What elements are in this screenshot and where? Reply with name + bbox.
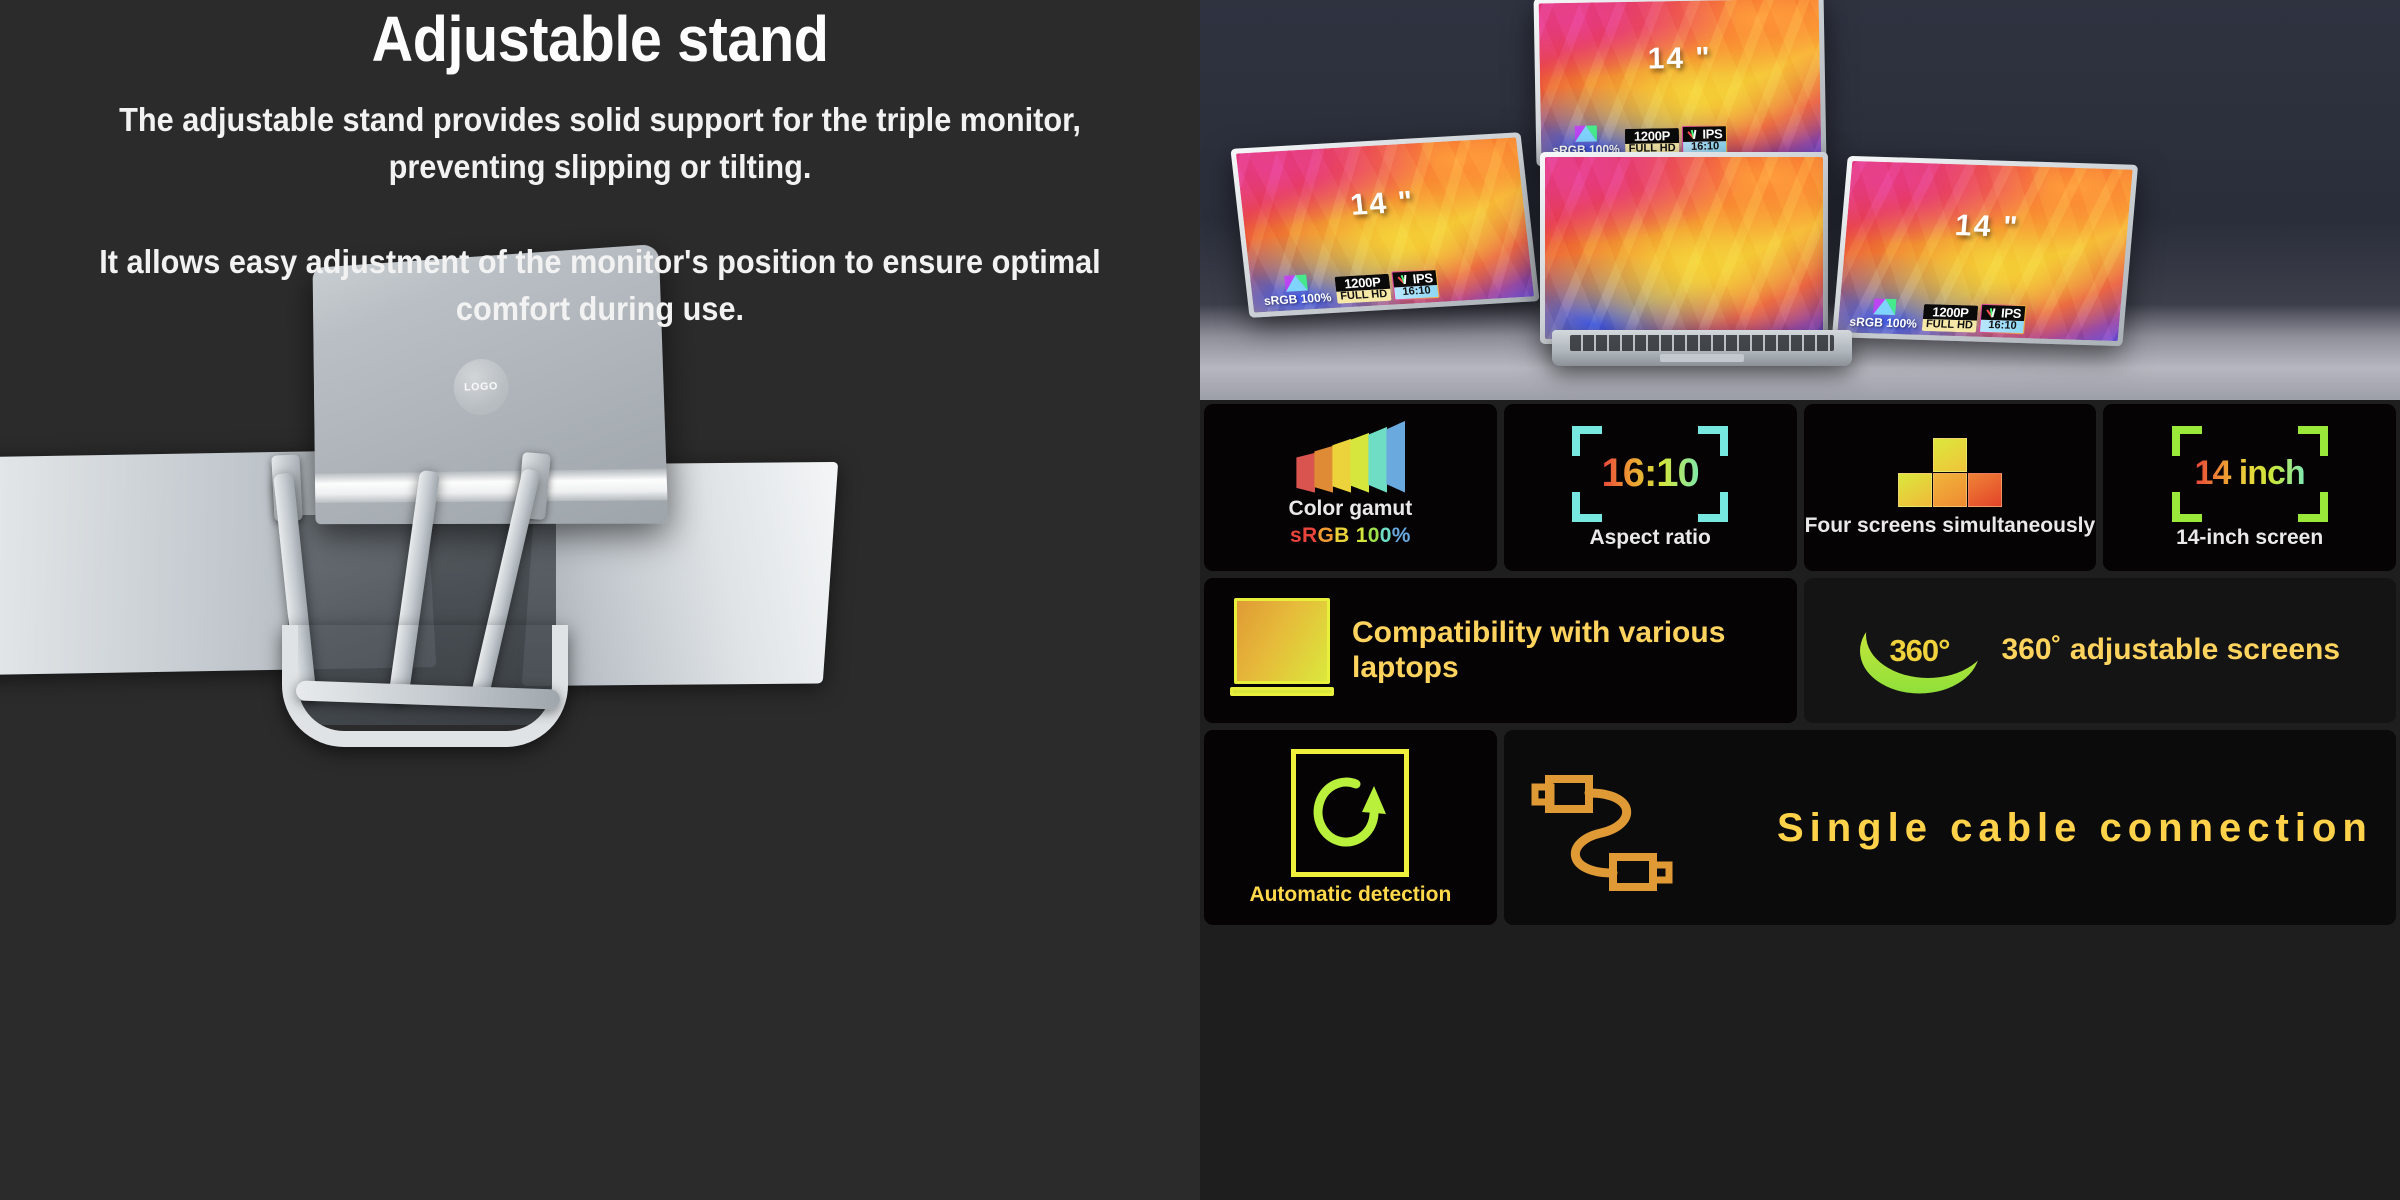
panel-badge-right-sub: 16:10 <box>1980 320 2024 333</box>
color-triangle-icon <box>1575 125 1597 141</box>
right-panel: 14 " sRGB 100% 1200P FULL HD <box>1200 0 2400 1200</box>
compatibility-label: Compatibility with various laptops <box>1352 616 1797 684</box>
resolution-badge-left: 1200P FULL HD <box>1334 273 1392 303</box>
laptop-icon-screen <box>1234 598 1330 684</box>
screen-size-value: 14 inch <box>2195 454 2305 493</box>
rotation-360-icon: 360° <box>1860 608 1980 694</box>
aspect-ratio-bracket-icon: 16:10 <box>1572 426 1728 522</box>
left-panel: Adjustable stand The adjustable stand pr… <box>0 0 1200 1200</box>
monitor-left-badges: sRGB 100% 1200P FULL HD IPS 16:10 <box>1261 262 1522 308</box>
logo-emblem: LOGO <box>453 358 509 416</box>
panel-badge-left-text: IPS <box>1412 271 1434 286</box>
monitor-center-laptop <box>1540 152 1828 344</box>
ips-fan-icon <box>1986 307 2000 317</box>
rotation-icon-value: 360° <box>1889 633 1949 669</box>
product-infographic: Adjustable stand The adjustable stand pr… <box>0 0 2400 1200</box>
laptop-icon-base <box>1230 687 1334 696</box>
srgb-group-right: sRGB 100% <box>1849 298 1919 331</box>
hero-product-photo: 14 " sRGB 100% 1200P FULL HD <box>1200 0 2400 400</box>
feature-tile-grid: Color gamut sRGB 100% 16:10 Aspect ratio <box>1200 400 2400 925</box>
feature-tile-color-gamut: Color gamut sRGB 100% <box>1204 404 1497 571</box>
resolution-badge-right: 1200P FULL HD <box>1921 304 1978 333</box>
ips-fan-icon <box>1397 274 1411 285</box>
panel-badge-top: IPS 16:10 <box>1682 125 1728 155</box>
cable-icon <box>1527 753 1737 903</box>
feature-tile-rotation: 360° 360˚ adjustable screens <box>1804 578 2396 723</box>
screen-size-bracket-icon: 14 inch <box>2172 426 2328 522</box>
color-gamut-icon <box>1296 427 1404 493</box>
aspect-ratio-label: Aspect ratio <box>1589 526 1710 550</box>
monitor-right-size-label: 14 " <box>1954 209 2021 245</box>
monitor-left: 14 " sRGB 100% 1200P FULL HD <box>1230 132 1539 318</box>
monitor-center-screen <box>1545 157 1823 339</box>
panel-badge-left: IPS 16:10 <box>1392 269 1440 301</box>
aspect-ratio-value: 16:10 <box>1601 451 1698 496</box>
color-gamut-value: sRGB 100% <box>1290 524 1411 548</box>
laptop-trackpad <box>1660 354 1744 362</box>
panel-badge-right: IPS 16:10 <box>1979 303 2027 334</box>
screen-size-label: 14-inch screen <box>2176 526 2323 550</box>
monitor-left-size-label: 14 " <box>1349 185 1417 222</box>
description-paragraph-1: The adjustable stand provides solid supp… <box>42 97 1158 191</box>
feature-row-2: Compatibility with various laptops 360° … <box>1204 578 2396 723</box>
rotation-label: 360˚ adjustable screens <box>2002 633 2341 667</box>
four-screens-icon <box>1898 438 2002 510</box>
monitor-top: 14 " sRGB 100% 1200P FULL HD <box>1534 0 1827 167</box>
resolution-badge-right-sub: FULL HD <box>1921 319 1977 332</box>
feature-tile-auto-detection: Automatic detection <box>1204 730 1497 925</box>
srgb-group-left: sRGB 100% <box>1261 273 1332 308</box>
panel-badge-top-text: IPS <box>1702 127 1722 141</box>
panel-badge-top-value: IPS <box>1683 126 1726 143</box>
single-cable-label: Single cable connection <box>1777 797 2373 859</box>
monitor-top-size-label: 14 " <box>1647 42 1712 77</box>
feature-tile-compatibility: Compatibility with various laptops <box>1204 578 1797 723</box>
monitor-right-badges: sRGB 100% 1200P FULL HD IPS 16:10 <box>1849 298 2110 337</box>
monitor-right-screen: 14 " sRGB 100% 1200P FULL HD <box>1837 161 2132 341</box>
auto-detection-label: Automatic detection <box>1249 883 1451 907</box>
description-paragraph-2: It allows easy adjustment of the monitor… <box>42 239 1158 333</box>
color-triangle-icon <box>1284 275 1308 292</box>
feature-tile-screen-size: 14 inch 14-inch screen <box>2103 404 2396 571</box>
laptop-icon <box>1230 598 1334 704</box>
monitor-top-screen: 14 " sRGB 100% 1200P FULL HD <box>1539 0 1822 161</box>
color-triangle-icon <box>1873 298 1896 315</box>
feature-row-3: Automatic detection Single cable connect… <box>1204 730 2396 925</box>
ips-fan-icon <box>1687 129 1700 139</box>
color-gamut-label: Color gamut <box>1289 497 1413 521</box>
monitor-right: 14 " sRGB 100% 1200P FULL HD <box>1832 156 2138 346</box>
stand-product-photo: LOGO <box>0 215 1200 1200</box>
srgb-text-left: sRGB 100% <box>1263 290 1332 308</box>
feature-tile-single-cable: Single cable connection <box>1504 730 2396 925</box>
laptop-keyboard <box>1570 335 1834 351</box>
feature-row-1: Color gamut sRGB 100% 16:10 Aspect ratio <box>1204 404 2396 571</box>
monitor-left-screen: 14 " sRGB 100% 1200P FULL HD <box>1236 137 1534 312</box>
page-title: Adjustable stand <box>60 6 1140 73</box>
refresh-arrow-icon <box>1312 770 1388 856</box>
auto-detection-icon <box>1291 749 1409 877</box>
resolution-badge-left-sub: FULL HD <box>1336 289 1392 304</box>
srgb-text-right: sRGB 100% <box>1849 315 1918 331</box>
four-screens-label: Four screens simultaneously <box>1805 514 2096 538</box>
left-copy-block: Adjustable stand The adjustable stand pr… <box>0 0 1200 333</box>
laptop-base <box>1552 330 1852 366</box>
panel-badge-right-text: IPS <box>2000 306 2021 320</box>
panel-badge-left-sub: 16:10 <box>1395 285 1439 299</box>
feature-tile-four-screens: Four screens simultaneously <box>1804 404 2097 571</box>
feature-tile-aspect-ratio: 16:10 Aspect ratio <box>1504 404 1797 571</box>
